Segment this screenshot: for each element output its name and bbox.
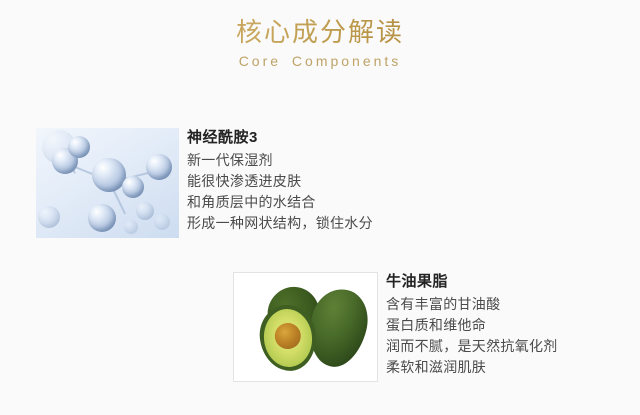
avocado-pit [273, 321, 302, 350]
ingredient-copy: 神经酰胺3 新一代保湿剂 能很快渗透进皮肤 和角质层中的水结合 形成一种网状结构… [187, 128, 373, 234]
molecule-sphere [92, 158, 126, 192]
ingredient-section-ceramide-3: 神经酰胺3 新一代保湿剂 能很快渗透进皮肤 和角质层中的水结合 形成一种网状结构… [36, 128, 373, 238]
ingredient-line: 和角质层中的水结合 [187, 192, 373, 213]
molecule-sphere [122, 176, 144, 198]
molecule-photo [36, 128, 179, 238]
ingredient-section-avocado-butter: 牛油果脂 含有丰富的甘油酸 蛋白质和维他命 润而不腻，是天然抗氧化剂 柔软和滋润… [233, 272, 558, 382]
ingredient-copy: 牛油果脂 含有丰富的甘油酸 蛋白质和维他命 润而不腻，是天然抗氧化剂 柔软和滋润… [386, 272, 558, 378]
ingredient-line: 含有丰富的甘油酸 [386, 294, 558, 315]
ingredient-title: 神经酰胺3 [187, 128, 373, 148]
molecule-sphere [38, 206, 60, 228]
page-header: 核心成分解读 Core Components [0, 0, 640, 72]
ingredient-line: 润而不腻，是天然抗氧化剂 [386, 336, 558, 357]
molecule-sphere [88, 204, 116, 232]
ingredient-title: 牛油果脂 [386, 272, 558, 292]
ingredient-line: 能很快渗透进皮肤 [187, 171, 373, 192]
ingredient-line: 新一代保湿剂 [187, 150, 373, 171]
molecule-sphere [68, 136, 90, 158]
molecule-sphere [146, 154, 172, 180]
avocado-flesh [261, 307, 315, 370]
molecule-sphere [136, 202, 154, 220]
page-title-cn: 核心成分解读 [0, 16, 640, 48]
page-subtitle-en: Core Components [0, 50, 640, 72]
ingredient-line: 柔软和滋润肌肤 [386, 357, 558, 378]
ingredient-line: 蛋白质和维他命 [386, 315, 558, 336]
molecule-sphere [154, 214, 170, 230]
molecule-sphere [124, 220, 138, 234]
ingredient-line: 形成一种网状结构，锁住水分 [187, 213, 373, 234]
avocado-photo [233, 272, 378, 382]
